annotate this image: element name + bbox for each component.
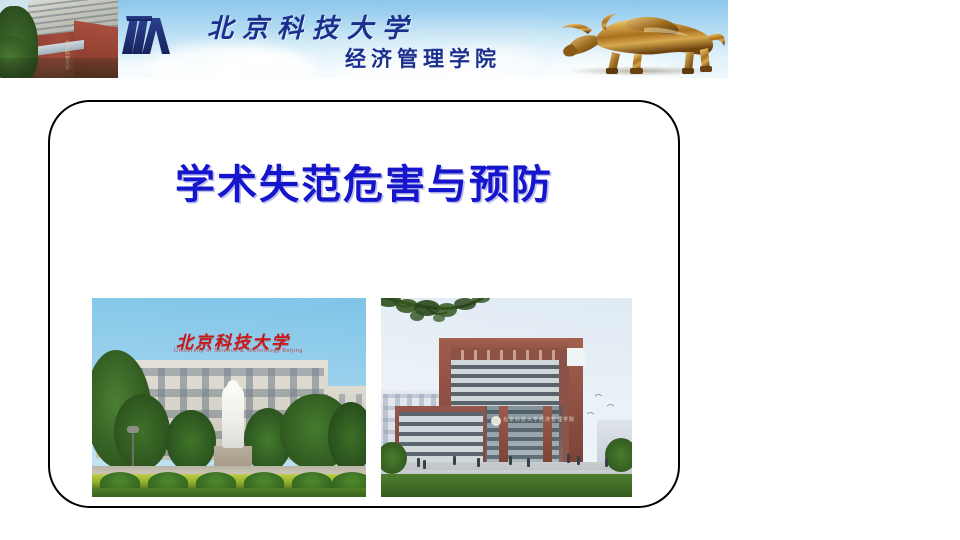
tree-branch-overlay [381, 298, 523, 352]
photo-sem-building: 北京科技大学经济管理学院 [381, 298, 632, 497]
header-banner: 北京科技大学 北京科技大学 经济管理学院 [0, 0, 728, 78]
ustb-logo-icon [118, 12, 184, 56]
photo-ustb-main-building: 北京科技大学 University of Science & Technolog… [92, 298, 366, 497]
page-title: 学术失范危害与预防 [48, 152, 680, 210]
bird-icon [595, 384, 602, 387]
banner-campus-photo: 北京科技大学 [0, 0, 118, 78]
golden-bull-icon [548, 2, 728, 78]
building-roof-sign-en: University of Science & Technology Beiji… [174, 348, 320, 354]
banner-school-name: 经济管理学院 [345, 43, 501, 73]
building-roof-sign-cn: 北京科技大学 [176, 328, 312, 350]
banner-university-name: 北京科技大学 [207, 8, 417, 45]
bird-icon [587, 402, 594, 405]
bird-icon [607, 394, 614, 397]
